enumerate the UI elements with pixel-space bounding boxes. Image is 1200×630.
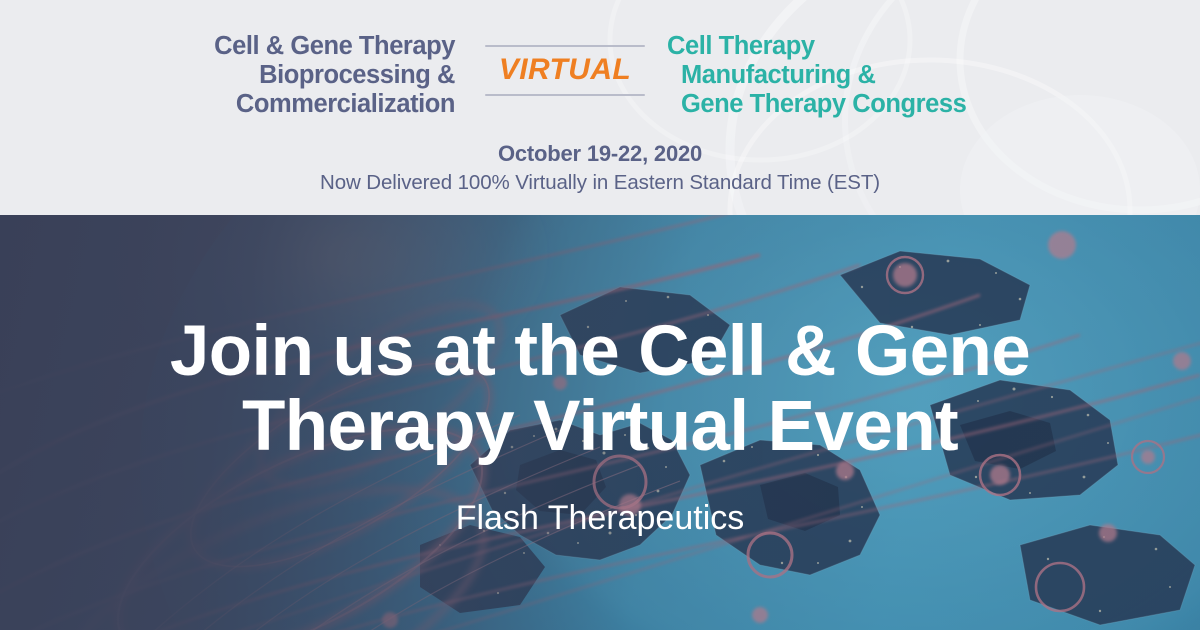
event-promo-banner: Cell & Gene Therapy Bioprocessing & Comm…	[0, 0, 1200, 630]
virtual-badge-label: VIRTUAL	[485, 47, 645, 94]
logo-right-line-2: Manufacturing &	[667, 61, 1045, 90]
hero-subheadline: Flash Therapeutics	[456, 498, 745, 539]
hero-headline: Join us at the Cell & Gene Therapy Virtu…	[70, 315, 1130, 464]
virtual-badge-rule-bottom	[485, 94, 645, 96]
banner-hero: Join us at the Cell & Gene Therapy Virtu…	[0, 215, 1200, 630]
event-delivery-note: Now Delivered 100% Virtually in Eastern …	[0, 170, 1200, 197]
event-date-block: October 19-22, 2020 Now Delivered 100% V…	[0, 140, 1200, 197]
logo-right-line-1: Cell Therapy	[667, 32, 1045, 61]
logo-left-line-1: Cell & Gene Therapy	[155, 32, 455, 61]
hero-content: Join us at the Cell & Gene Therapy Virtu…	[0, 215, 1200, 630]
event-date: October 19-22, 2020	[0, 140, 1200, 168]
logo-row: Cell & Gene Therapy Bioprocessing & Comm…	[0, 32, 1200, 120]
logo-left-line-3: Commercialization	[155, 90, 455, 119]
banner-header: Cell & Gene Therapy Bioprocessing & Comm…	[0, 0, 1200, 215]
logo-left-line-2: Bioprocessing &	[155, 61, 455, 90]
logo-right-line-3: Gene Therapy Congress	[667, 90, 1045, 119]
logo-left: Cell & Gene Therapy Bioprocessing & Comm…	[155, 32, 485, 119]
logo-right: Cell Therapy Manufacturing & Gene Therap…	[645, 32, 1045, 119]
virtual-badge: VIRTUAL	[485, 32, 645, 96]
